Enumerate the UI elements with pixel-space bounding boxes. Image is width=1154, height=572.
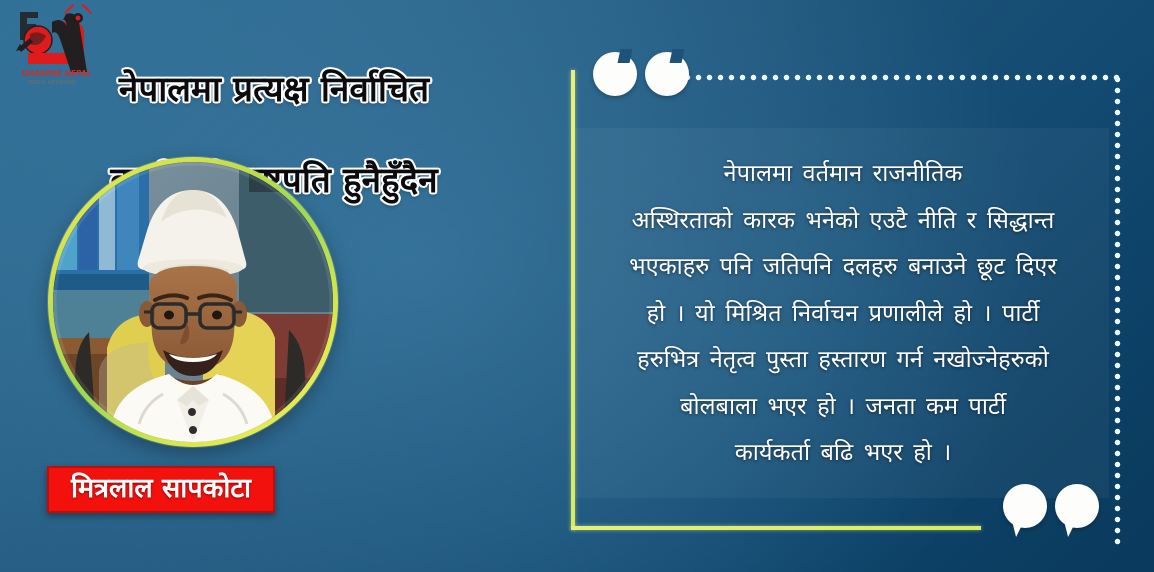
quote-line: भएकाहरु पनि जतिपनि दलहरु बनाउने छूट दिएर <box>573 243 1113 290</box>
quote-open-glyph-2 <box>645 52 689 96</box>
quote-close-icon <box>1003 484 1099 540</box>
quote-line: नेपालमा वर्तमान राजनीतिक <box>573 150 1113 197</box>
dotted-border-top <box>671 74 1121 81</box>
quote-line: अस्थिरताको कारक भनेको एउटै नीति र सिद्धा… <box>573 197 1113 244</box>
quote-line: हो । यो मिश्रित निर्वाचन प्रणालीले हो । … <box>573 290 1113 337</box>
quote-line: कार्यकर्ता बढि भएर हो । <box>573 429 1113 476</box>
quote-open-icon <box>593 52 689 108</box>
quote-close-glyph-2 <box>1055 484 1099 528</box>
quote-close-glyph-1 <box>1003 484 1047 528</box>
accent-border-bottom <box>571 526 981 530</box>
quote-open-glyph-1 <box>593 52 637 96</box>
avatar <box>53 162 333 442</box>
quote-line: बोलबाला भएर हो । जनता कम पार्टी <box>573 383 1113 430</box>
portrait-ring <box>48 157 338 447</box>
dotted-border-right <box>1114 74 1121 546</box>
poster-canvas: DHARMIK NEPAL MEDIA NETWORK नेपालमा प्रत… <box>0 0 1154 572</box>
quote-line: हरुभित्र नेतृत्व पुस्ता हस्तारण गर्न नखो… <box>573 336 1113 383</box>
quote-card: नेपालमा वर्तमान राजनीतिक अस्थिरताको कारक… <box>553 42 1139 552</box>
headline-line-1: नेपालमा प्रत्यक्ष निर्वाचित <box>0 68 548 114</box>
quote-text: नेपालमा वर्तमान राजनीतिक अस्थिरताको कारक… <box>573 150 1113 476</box>
speaker-name: मित्रलाल सापकोटा <box>71 475 251 502</box>
speaker-name-banner: मित्रलाल सापकोटा <box>47 466 275 513</box>
